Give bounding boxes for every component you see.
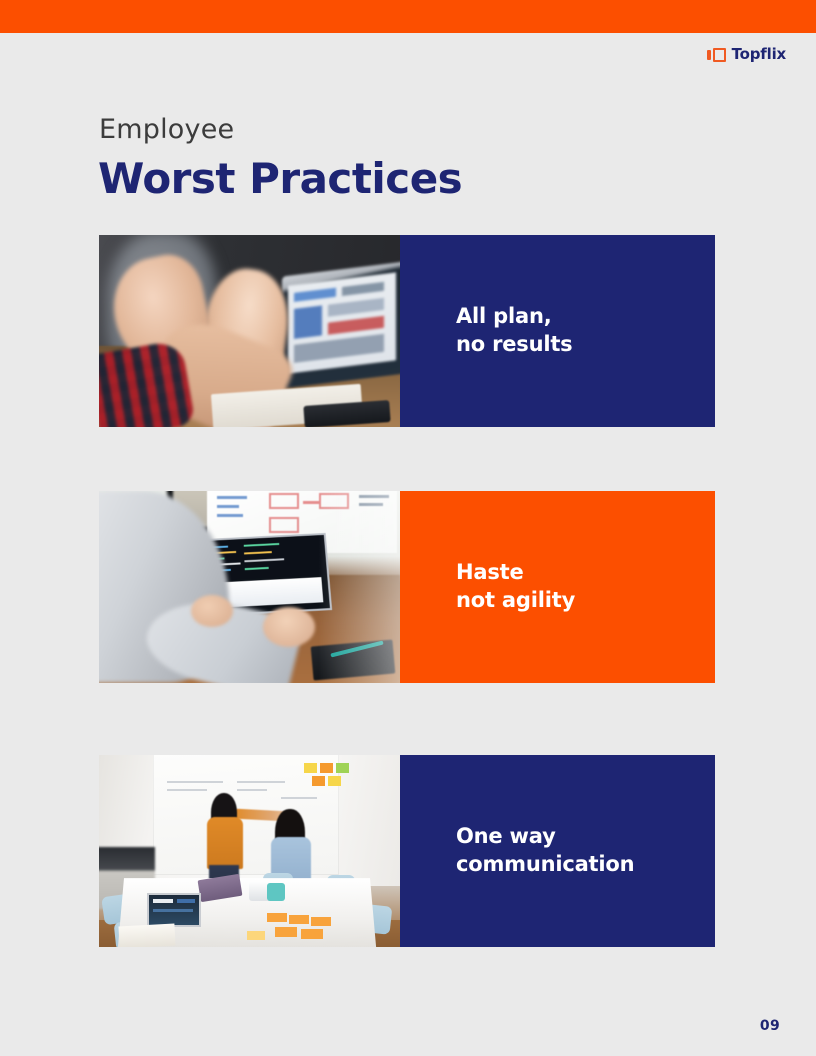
brand-name: Topflix [732,47,786,62]
practice-card-2[interactable]: Haste not agility [99,491,715,683]
practice-photo-3 [99,755,400,947]
practice-panel-1: All plan, no results [400,235,715,427]
practice-card-1[interactable]: All plan, no results [99,235,715,427]
heading-eyebrow: Employee [99,114,234,146]
practice-card-3[interactable]: One way communication [99,755,715,947]
practice-title-2: Haste not agility [456,559,715,614]
video-camera-icon [707,48,726,62]
practice-title-1: All plan, no results [456,303,715,358]
brand-logo: Topflix [707,47,786,62]
practice-panel-2: Haste not agility [400,491,715,683]
practice-photo-1 [99,235,400,427]
practice-panel-3: One way communication [400,755,715,947]
page-number: 09 [760,1018,780,1034]
practice-title-3: One way communication [456,823,715,878]
practice-photo-2 [99,491,400,683]
top-accent-bar [0,0,816,33]
page-title: Worst Practices [98,155,462,203]
